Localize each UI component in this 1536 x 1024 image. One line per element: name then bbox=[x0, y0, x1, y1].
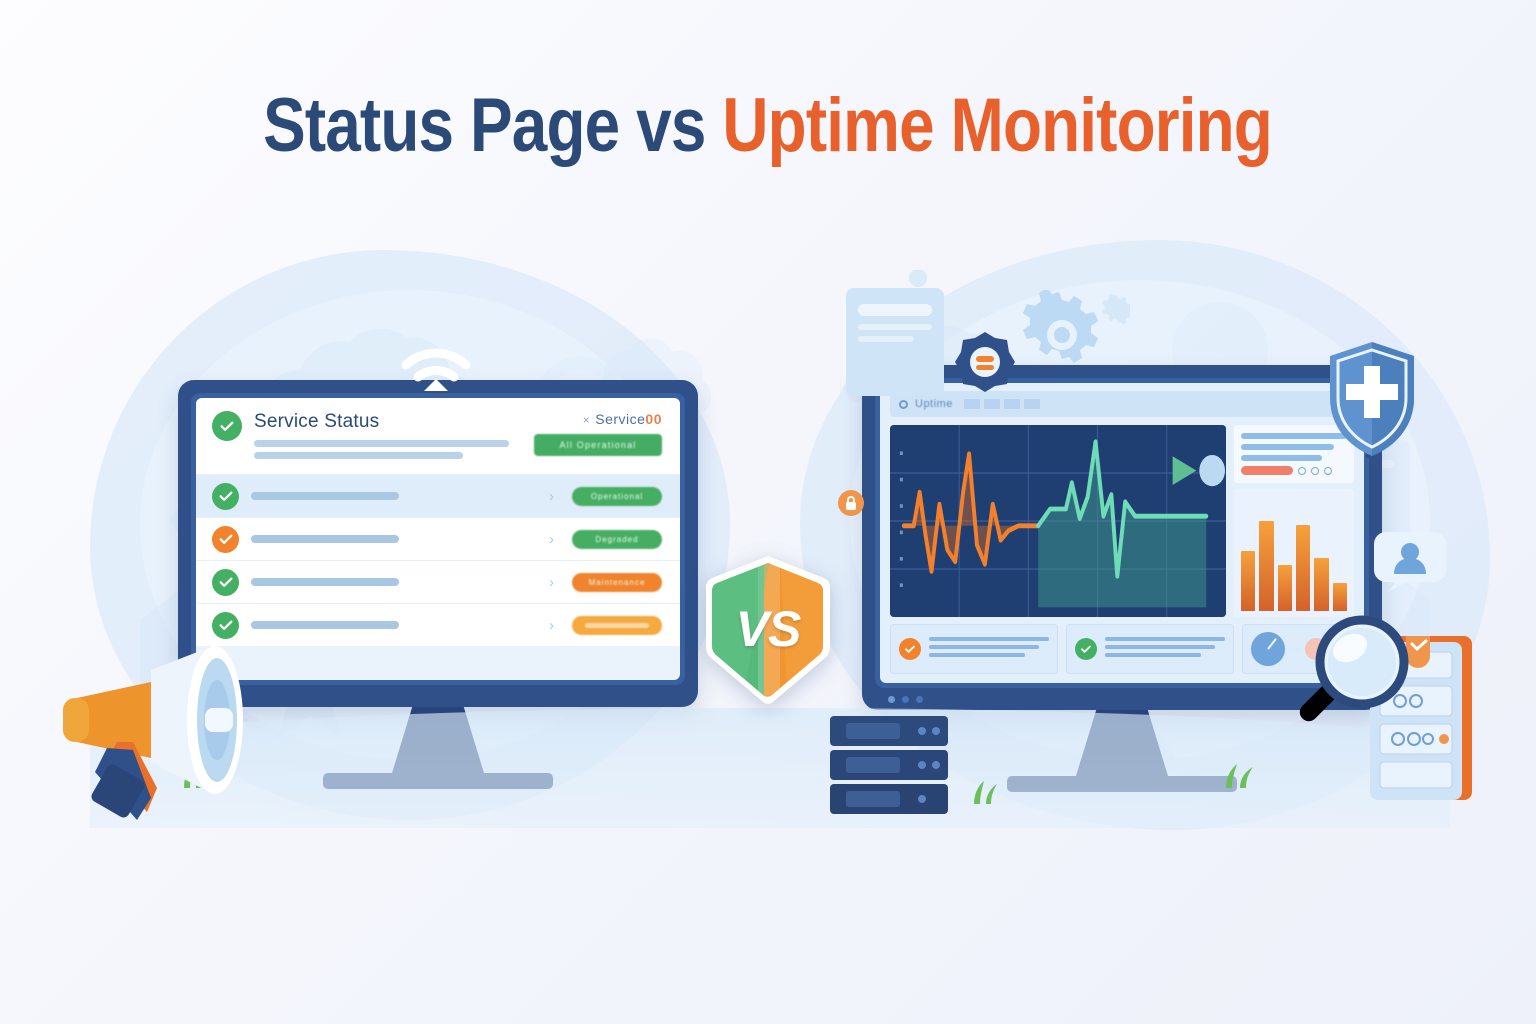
dot-icon bbox=[1324, 467, 1332, 475]
status-badge bbox=[572, 616, 662, 635]
gauge-icon bbox=[1251, 632, 1285, 666]
bar-item bbox=[1333, 583, 1347, 611]
row-glyph: › bbox=[549, 531, 554, 548]
wifi-icon bbox=[396, 335, 476, 395]
bar-item bbox=[1296, 525, 1310, 611]
page-title-part-a: Status Page vs bbox=[264, 83, 723, 168]
status-page-header: Service Status ×Service00 All Operationa… bbox=[196, 398, 680, 474]
shield-cross-icon bbox=[1322, 338, 1422, 458]
alert-bar bbox=[1241, 466, 1293, 475]
status-page-brand-block: ×Service00 All Operational bbox=[534, 411, 662, 456]
grass-icon bbox=[1222, 760, 1266, 788]
vs-label: VS bbox=[688, 600, 848, 658]
side-metric-row bbox=[1241, 466, 1347, 475]
brand-accent: 00 bbox=[645, 411, 662, 427]
check-circle-icon bbox=[212, 483, 239, 510]
page-header: Status Page vs Uptime Monitoring bbox=[0, 0, 1536, 250]
page-title-part-b: Uptime Monitoring bbox=[723, 83, 1273, 168]
service-name-bar bbox=[251, 492, 399, 500]
placeholder-bar bbox=[1241, 444, 1334, 450]
bar-item bbox=[1278, 565, 1292, 611]
check-circle-icon bbox=[212, 569, 239, 596]
bar-item bbox=[1259, 521, 1273, 611]
brand-logo: ×Service00 bbox=[534, 411, 662, 427]
brand-x: × bbox=[583, 413, 591, 427]
check-circle-icon bbox=[1075, 638, 1097, 660]
table-row[interactable]: › Operational bbox=[196, 474, 680, 517]
check-circle-icon bbox=[212, 526, 239, 553]
bezel-indicator-dots bbox=[888, 696, 923, 703]
dot-icon bbox=[1311, 467, 1319, 475]
person-badge-icon bbox=[1372, 530, 1448, 594]
gear-icon bbox=[1000, 290, 1130, 380]
table-row[interactable]: › Degraded bbox=[196, 517, 680, 560]
magnifier-icon bbox=[1288, 610, 1418, 740]
card-lines bbox=[929, 637, 1049, 661]
grass-icon bbox=[970, 778, 1010, 804]
status-badge: Operational bbox=[572, 487, 662, 506]
status-badge: Degraded bbox=[572, 530, 662, 549]
status-badge: Maintenance bbox=[572, 573, 662, 592]
chart-end-dot bbox=[1199, 455, 1225, 486]
placeholder-bar bbox=[1241, 455, 1322, 461]
overall-status-badge: All Operational bbox=[534, 434, 662, 456]
check-circle-icon bbox=[212, 411, 242, 441]
dot-icon bbox=[1298, 467, 1306, 475]
bar-item bbox=[1314, 558, 1328, 611]
row-glyph: › bbox=[549, 574, 554, 591]
hex-badge-icon bbox=[955, 330, 1015, 392]
status-page-title: Service Status bbox=[254, 411, 522, 433]
service-name-bar bbox=[251, 578, 399, 586]
placeholder-bar bbox=[254, 452, 463, 459]
megaphone-icon bbox=[55, 620, 305, 820]
status-page-title-block: Service Status bbox=[254, 411, 522, 459]
illustration-stage: Service Status ×Service00 All Operationa… bbox=[0, 230, 1536, 870]
toolbar-blocks bbox=[964, 399, 1040, 409]
response-time-chart[interactable] bbox=[890, 425, 1226, 617]
row-glyph: › bbox=[549, 617, 554, 634]
incident-bar-chart[interactable] bbox=[1234, 489, 1354, 617]
monitoring-toolbar[interactable]: Uptime bbox=[890, 391, 1354, 417]
chart-svg bbox=[890, 425, 1226, 617]
row-glyph: › bbox=[549, 488, 554, 505]
record-icon bbox=[899, 400, 908, 409]
document-icon bbox=[840, 270, 950, 400]
brand-text: Service bbox=[595, 411, 645, 427]
vs-badge: VS bbox=[688, 550, 848, 710]
lock-icon bbox=[838, 490, 864, 516]
healthy-card[interactable] bbox=[1066, 624, 1234, 674]
service-name-bar bbox=[251, 535, 399, 543]
table-row[interactable]: › Maintenance bbox=[196, 560, 680, 603]
monitoring-body bbox=[880, 417, 1364, 617]
page-title: Status Page vs Uptime Monitoring bbox=[264, 82, 1273, 169]
bar-item bbox=[1241, 551, 1255, 611]
card-lines bbox=[1105, 637, 1225, 661]
check-circle-icon bbox=[899, 638, 921, 660]
alert-card[interactable] bbox=[890, 624, 1058, 674]
placeholder-bar bbox=[254, 440, 509, 447]
server-stack-icon bbox=[820, 710, 970, 820]
